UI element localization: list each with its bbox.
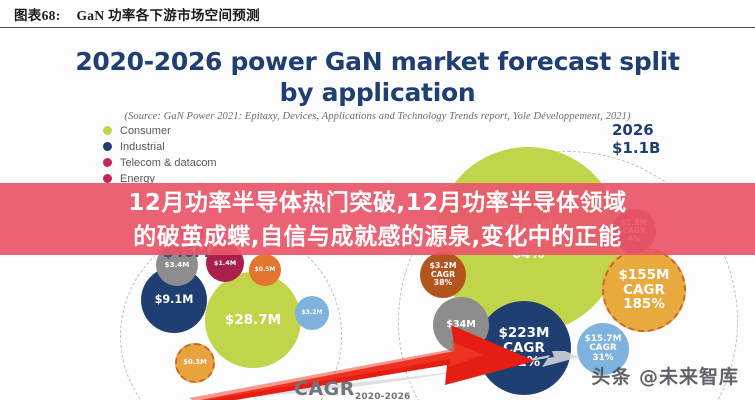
bubble-value-label: $0.3M [183, 359, 207, 366]
callout-2026: 2026 $1.1B [612, 121, 660, 157]
bubble-value-label: $9.1M [155, 294, 194, 306]
bubble-auto-2020: $0.3M [175, 343, 215, 383]
bubble-cagr-label: CAGR [623, 283, 665, 298]
legend-swatch-icon [103, 142, 112, 151]
document-header: 图表68:GaN 功率各下游市场空间预测 [0, 0, 755, 28]
bubble-value-label: $28.7M [225, 313, 281, 328]
bubble-cagr-value: 185% [623, 297, 665, 312]
bubble-value-label: $3.2M [302, 310, 323, 316]
overall-cagr-annotation: CAGR2020-2026 +70% [294, 380, 411, 400]
bubble-cagr-label: CAGR [503, 341, 545, 356]
legend-item-label: Industrial [120, 141, 165, 153]
chart-title: 2020-2026 power GaN market forecast spli… [0, 46, 755, 108]
legend-item-label: Consumer [120, 125, 171, 137]
bubble-consumer-2020: $28.7M [205, 272, 301, 368]
legend-item-industrial: Industrial [103, 139, 303, 154]
legend-swatch-icon [103, 158, 112, 167]
bubble-energy-2026: $155MCAGR185% [602, 248, 686, 332]
bubble-blue-2020: $3.2M [295, 296, 329, 330]
legend-item-consumer: Consumer [103, 123, 303, 138]
bubble-value-label: $0.5M [255, 267, 276, 273]
chart-legend: ConsumerIndustrialTelecom & datacomEnerg… [103, 123, 303, 187]
figure-index: 图表68: [14, 8, 61, 23]
legend-item-telecom-datacom: Telecom & datacom [103, 155, 303, 170]
chart-title-line-2: by application [0, 77, 755, 108]
bubble-telecom-2026: $223MCAGR71% [477, 301, 571, 395]
bubble-cagr-value: 38% [434, 279, 453, 287]
figure-caption: 图表68:GaN 功率各下游市场空间预测 [14, 4, 260, 24]
bubble-cagr-value: 71% [508, 355, 540, 370]
bubble-value-label: $223M [498, 326, 549, 341]
headline-line-1: 12月功率半导体热门突破,12月功率半导体领域 [128, 186, 626, 220]
chart-title-line-1: 2020-2026 power GaN market forecast spli… [0, 46, 755, 77]
legend-item-label: Telecom & datacom [120, 157, 217, 169]
bubble-value-label: $3.4M [165, 261, 190, 269]
bubble-value-label: $155M [618, 268, 669, 283]
bubble-grey-2026: $34M [433, 297, 489, 353]
figure-title: GaN 功率各下游市场空间预测 [77, 8, 260, 23]
screenshot-root: 图表68:GaN 功率各下游市场空间预测 2020-2026 power GaN… [0, 0, 755, 400]
headline-overlay-text: 12月功率半导体热门突破,12月功率半导体领域 的破茧成蝶,自信与成就感的源泉,… [0, 180, 755, 260]
watermark: 头条 @未来智库 [591, 362, 739, 389]
bubble-value-label: $1.4M [214, 260, 236, 267]
overall-cagr-range: 2020-2026 [355, 392, 411, 400]
legend-swatch-icon [103, 126, 112, 135]
bubble-value-label: $34M [446, 320, 475, 330]
overall-cagr-label: CAGR [294, 378, 355, 400]
headline-line-2: 的破茧成蝶,自信与成就感的源泉,变化中的正能 [133, 220, 621, 254]
callout-2026-value: $1.1B [612, 139, 660, 157]
callout-2026-year: 2026 [612, 121, 660, 139]
